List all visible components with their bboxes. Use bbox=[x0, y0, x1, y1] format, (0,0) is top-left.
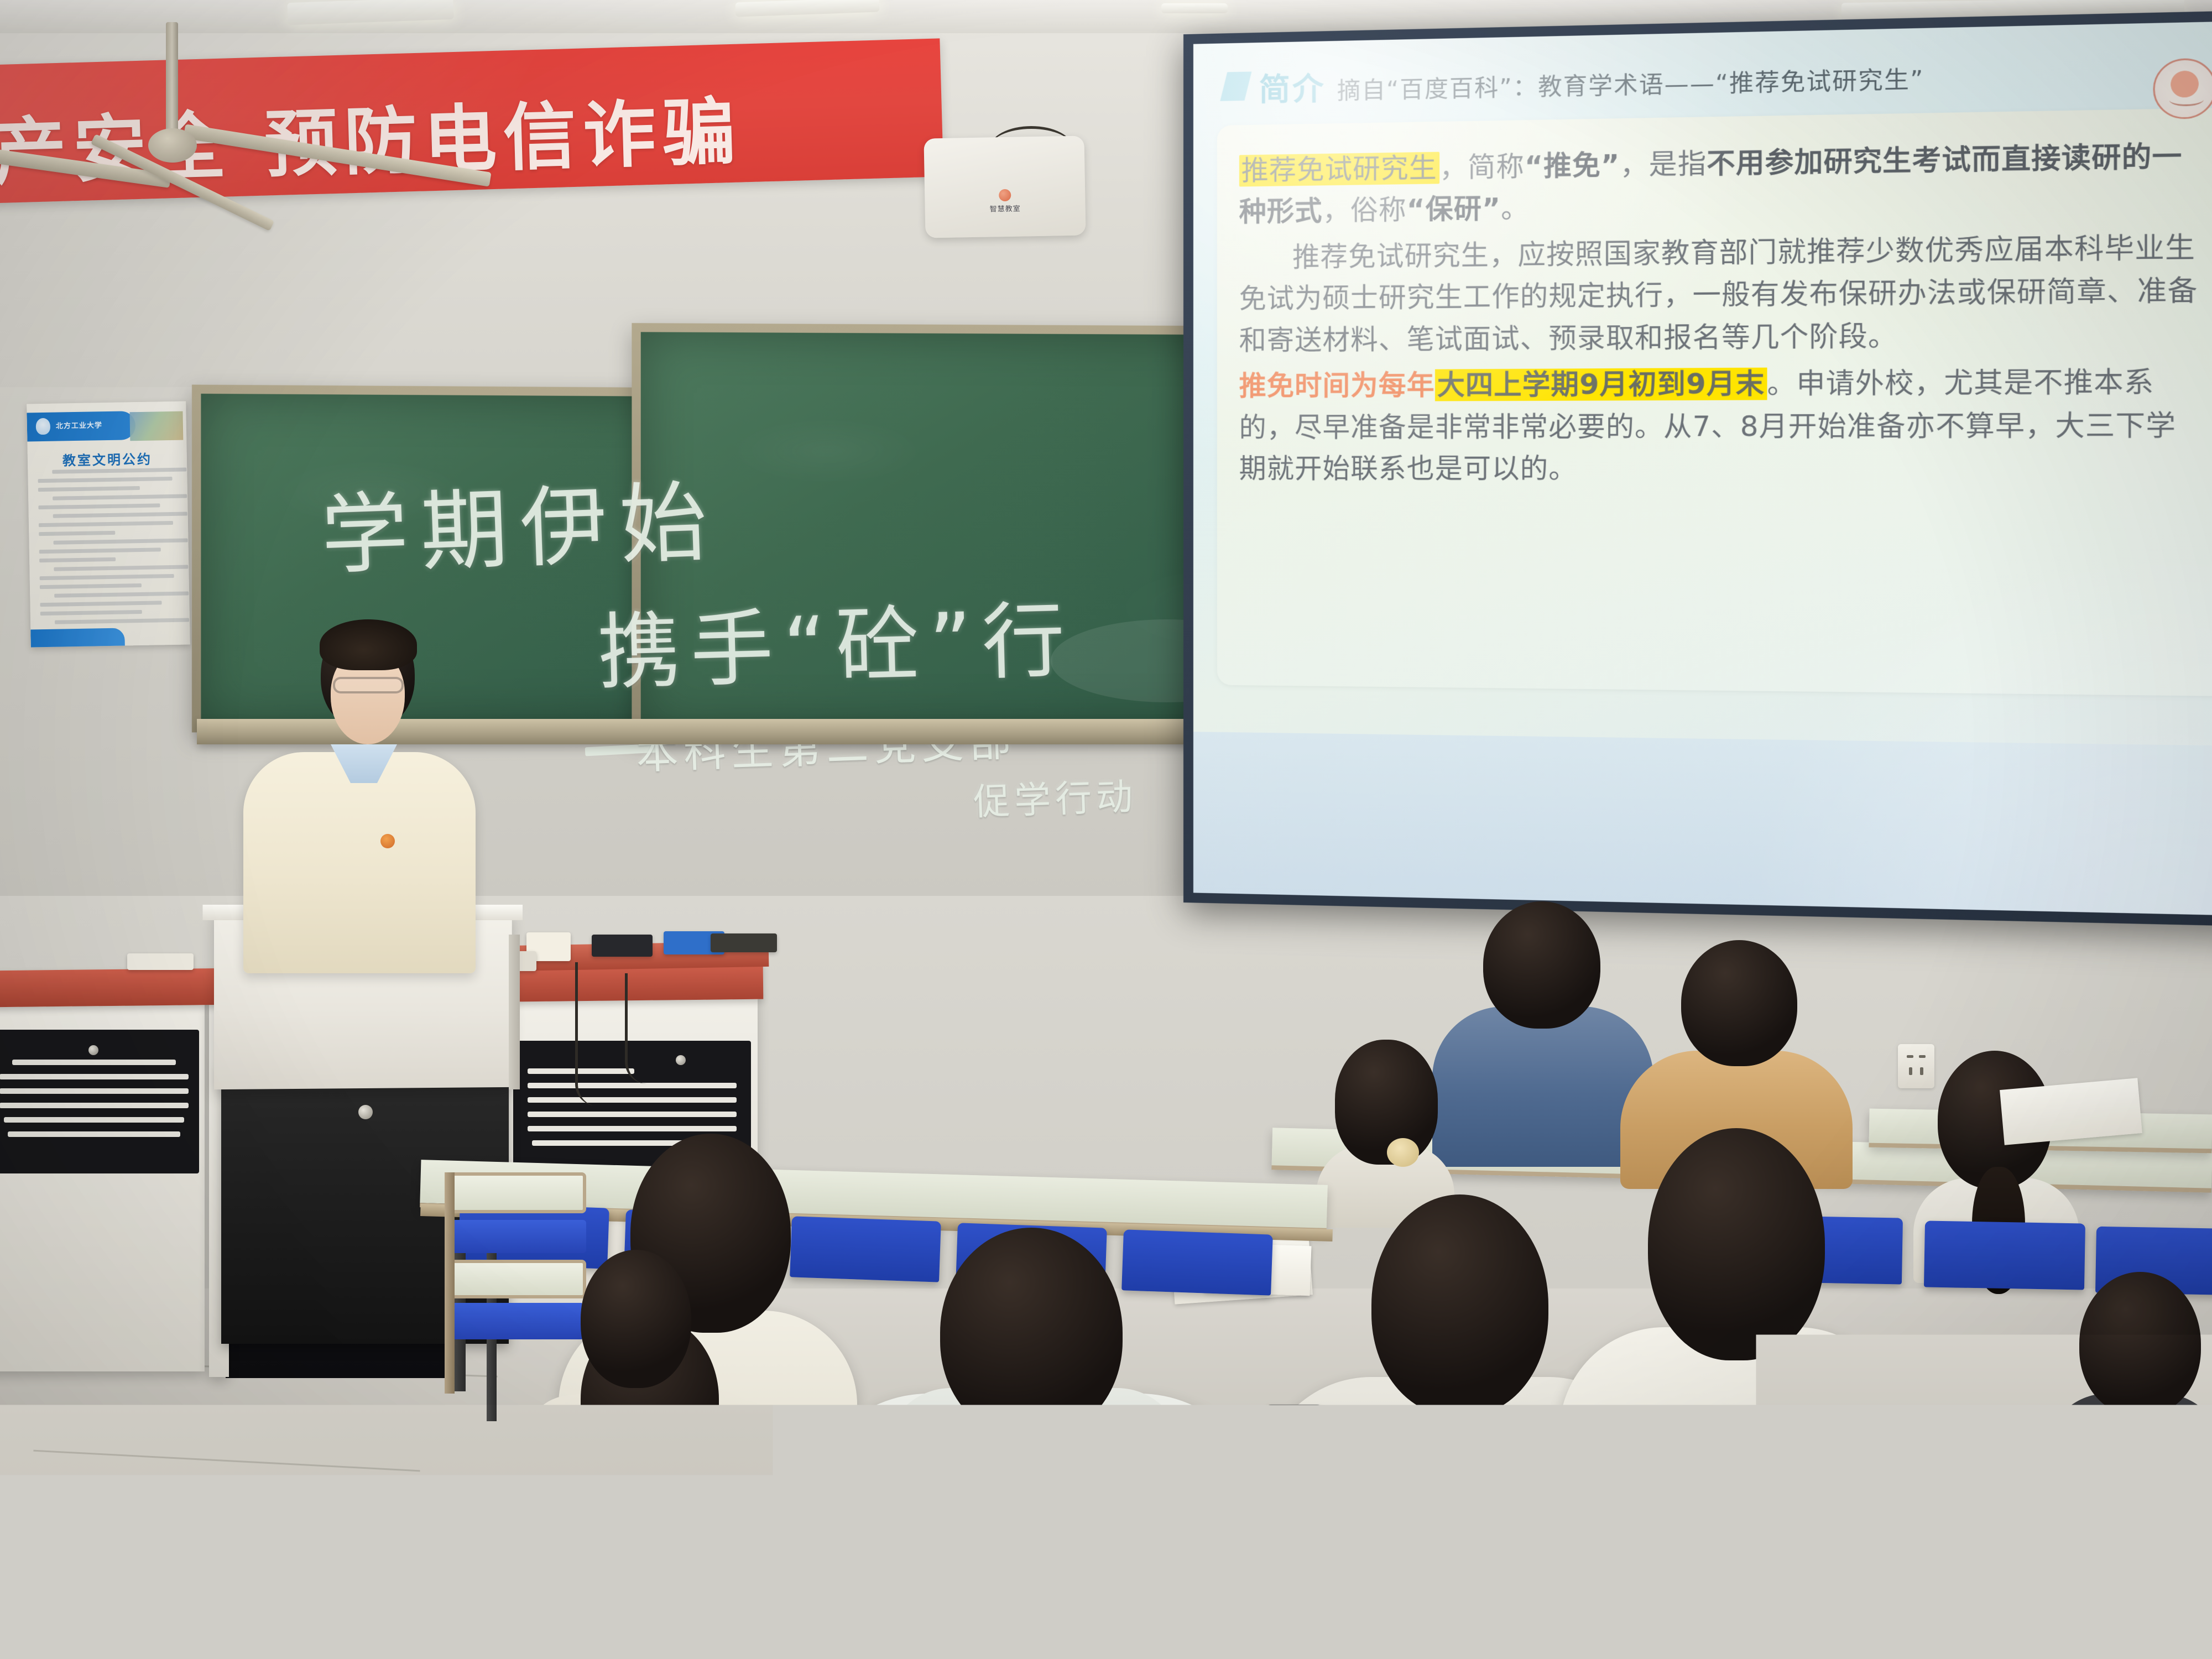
p1-highlight-term: 推荐免试研究生 bbox=[1239, 152, 1439, 186]
student-tan-head bbox=[1681, 940, 1797, 1066]
desk-paper-left bbox=[628, 1510, 738, 1581]
speaker-hair-front bbox=[320, 619, 417, 670]
chalkboard-line-2: 携手“砼”行 bbox=[596, 573, 1076, 706]
p1-seg-2: ，简称 bbox=[1439, 150, 1525, 184]
wall-box-logo: 智慧教室 bbox=[989, 189, 1021, 213]
ceiling-fan-hub bbox=[148, 128, 197, 163]
podium-lock-knob[interactable] bbox=[358, 1105, 373, 1119]
classroom-rules-poster: 北方工业大学 教室文明公约 bbox=[27, 401, 190, 648]
slide-paragraph-3: 推免时间为每年大四上学期9月初到9月末。申请外校，尤其是不推本系的，尽早准备是非… bbox=[1239, 361, 2201, 491]
slide-lower-band bbox=[1193, 732, 2212, 916]
speaker-presenter bbox=[238, 619, 492, 962]
student-front-white-right bbox=[1559, 1128, 1902, 1659]
desk-item-paper bbox=[127, 953, 194, 970]
student-white-right-head bbox=[1648, 1128, 1825, 1360]
speaker-badge-icon bbox=[380, 834, 395, 848]
poster-footer-band bbox=[30, 628, 125, 648]
student-hoodie-center-head bbox=[940, 1228, 1123, 1438]
speaker-sweater bbox=[243, 752, 476, 973]
logo-dot-icon bbox=[999, 189, 1011, 201]
desk-item-book bbox=[711, 933, 777, 952]
slide-bullet-mark-icon bbox=[1220, 71, 1251, 101]
ac-grille-left bbox=[0, 1030, 199, 1173]
wall-box-logo-label: 智慧教室 bbox=[989, 202, 1020, 213]
chalkboard-line-1: 学期伊始 bbox=[319, 451, 721, 592]
university-crest-icon bbox=[36, 418, 51, 435]
hoodie-print-icon bbox=[984, 1609, 1117, 1659]
p1-seg-7: “保研” bbox=[1407, 192, 1501, 226]
podium-side-panel bbox=[509, 935, 520, 1089]
wall-power-outlet[interactable] bbox=[1898, 1044, 1934, 1088]
speaker-glasses-icon bbox=[333, 677, 404, 693]
student-seated-far-left bbox=[559, 1250, 724, 1482]
slide-content-card: 推荐免试研究生，简称“推免”，是指不用参加研究生考试而直接读研的一种形式，俗称“… bbox=[1217, 107, 2212, 696]
poster-crest-label: 北方工业大学 bbox=[56, 419, 102, 430]
p1-seg-3: “推免” bbox=[1525, 149, 1620, 182]
presentation-slide: 简介 摘自“百度百科”：教育学术语——“推荐免试研究生” 推荐免试研究生，简称“… bbox=[1214, 44, 2212, 742]
slide-paragraph-1: 推荐免试研究生，简称“推免”，是指不用参加研究生考试而直接读研的一种形式，俗称“… bbox=[1239, 135, 2201, 233]
ceiling-light-4 bbox=[1161, 3, 1228, 13]
sunglasses-icon bbox=[1261, 1405, 1327, 1425]
p1-seg-4: ，是指 bbox=[1620, 148, 1707, 181]
chalkboard-line-4: 促学行动 bbox=[972, 767, 1138, 826]
power-cable-2 bbox=[625, 973, 675, 1084]
desk-item-dark-device bbox=[592, 935, 653, 957]
wall-speaker-box: 智慧教室 bbox=[924, 135, 1086, 238]
student-grey-right-head bbox=[1371, 1194, 1548, 1416]
p1-seg-8: 。 bbox=[1501, 192, 1530, 225]
slide-seal-logo-icon bbox=[2153, 58, 2212, 119]
student-front-hoodie-center bbox=[802, 1228, 1266, 1659]
p1-seg-6: ，俗称 bbox=[1322, 194, 1406, 227]
poster-title: 教室文明公约 bbox=[28, 448, 187, 470]
student-blue-head bbox=[1483, 901, 1600, 1029]
classroom-photo: 财产安全 预防电信诈骗 智慧教室 北方工业大学 教室文明公约 bbox=[0, 0, 2212, 1659]
ceiling-fan-rod bbox=[166, 22, 178, 133]
projection-screen-frame: 简介 摘自“百度百科”：教育学术语——“推荐免试研究生” 推荐免试研究生，简称“… bbox=[1183, 10, 2212, 927]
hair-tie-icon bbox=[1387, 1138, 1419, 1167]
slide-subtitle: 摘自“百度百科”：教育学术语——“推荐免试研究生” bbox=[1337, 60, 1924, 106]
projection-screen: 简介 摘自“百度百科”：教育学术语——“推荐免试研究生” 推荐免试研究生，简称“… bbox=[1193, 21, 2212, 916]
student-far-right-head bbox=[2079, 1272, 2201, 1416]
student-ponytail-left-head bbox=[1335, 1040, 1438, 1165]
p3-highlight-term: 大四上学期9月初到9月末 bbox=[1435, 368, 1767, 401]
p3-orange-term: 推免时间为每年 bbox=[1239, 369, 1435, 402]
poster-campus-photo bbox=[129, 411, 183, 441]
slide-header: 简介 摘自“百度百科”：教育学术语——“推荐免试研究生” bbox=[1214, 44, 2212, 110]
student-white-right-body bbox=[1559, 1327, 1902, 1659]
ac-lock-left[interactable] bbox=[88, 1045, 98, 1055]
ac-lock-right[interactable] bbox=[676, 1055, 686, 1065]
poster-body-text bbox=[38, 468, 182, 638]
student-seated-far-left-head bbox=[581, 1250, 691, 1388]
slide-title: 简介 bbox=[1259, 64, 1326, 110]
backpack bbox=[2002, 1537, 2201, 1659]
slide-paragraph-2: 推荐免试研究生，应按照国家教育部门就推荐少数优秀应届本科毕业生免试为硕士研究生工… bbox=[1239, 226, 2201, 362]
